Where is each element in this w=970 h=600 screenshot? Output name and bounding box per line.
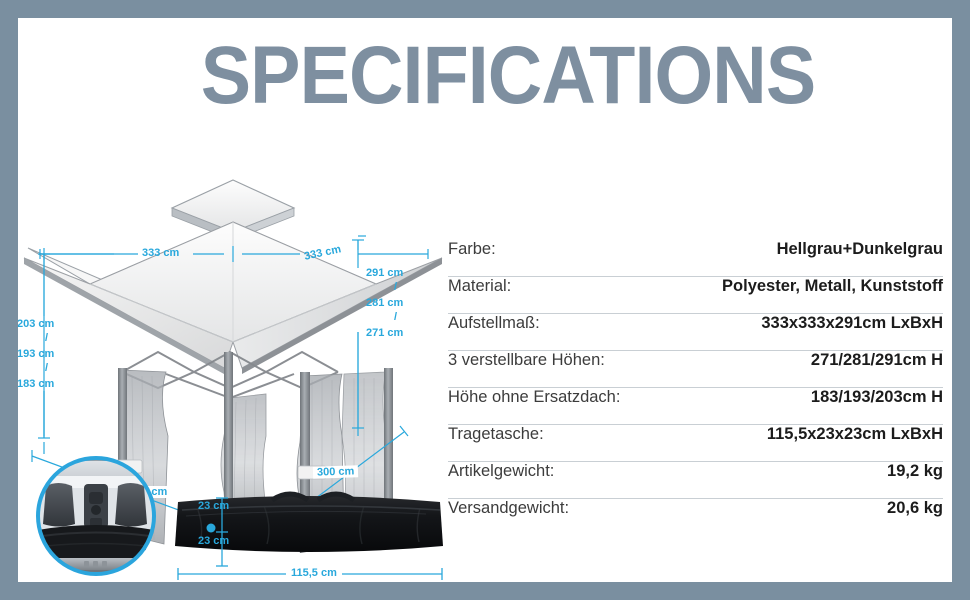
spec-value: 19,2 kg [887, 462, 943, 481]
spec-label: Artikelgewicht: [448, 462, 554, 481]
base-right-dimension: 300 cm [313, 465, 359, 479]
height-right-291: 291 cm [366, 267, 403, 279]
bag-depth-dimension: 23 cm [198, 500, 229, 512]
carry-bag-diagram: 23 cm 23 cm 115,5 cm [168, 480, 458, 582]
height-right-271: 271 cm [366, 327, 403, 339]
spec-label: 3 verstellbare Höhen: [448, 351, 605, 370]
height-right-281: 281 cm [366, 297, 403, 309]
height-left-193: 193 cm [18, 348, 54, 360]
table-row: Tragetasche: 115,5x23x23cm LxBxH [448, 425, 943, 462]
table-row: 3 verstellbare Höhen: 271/281/291cm H [448, 351, 943, 388]
card-inner: SPECIFICATIONS [18, 18, 952, 582]
height-right-slash-1: / [394, 281, 397, 293]
page-title: SPECIFICATIONS [158, 24, 857, 128]
spec-label: Tragetasche: [448, 425, 544, 444]
spec-value: 20,6 kg [887, 499, 943, 518]
height-left-slash-1: / [45, 332, 48, 344]
spec-label: Aufstellmaß: [448, 314, 540, 333]
table-row: Farbe: Hellgrau+Dunkelgrau [448, 240, 943, 277]
spec-value: 271/281/291cm H [811, 351, 943, 370]
spec-label: Höhe ohne Ersatzdach: [448, 388, 620, 407]
table-row: Versandgewicht: 20,6 kg [448, 499, 943, 536]
roof-left-dimension: 333 cm [142, 247, 179, 259]
bag-length-dimension: 115,5 cm [286, 567, 342, 579]
height-right-slash-2: / [394, 311, 397, 323]
table-row: Material: Polyester, Metall, Kunststoff [448, 277, 943, 314]
table-row: Höhe ohne Ersatzdach: 183/193/203cm H [448, 388, 943, 425]
spec-value: 115,5x23x23cm LxBxH [767, 425, 943, 444]
specifications-table: Farbe: Hellgrau+Dunkelgrau Material: Pol… [448, 240, 943, 536]
specification-card: SPECIFICATIONS [0, 0, 970, 600]
table-row: Aufstellmaß: 333x333x291cm LxBxH [448, 314, 943, 351]
spec-value: Polyester, Metall, Kunststoff [722, 277, 943, 296]
spec-value: Hellgrau+Dunkelgrau [777, 240, 943, 259]
car-trunk-inset [32, 452, 160, 580]
spec-value: 333x333x291cm LxBxH [761, 314, 943, 333]
spec-label: Material: [448, 277, 511, 296]
height-left-203: 203 cm [18, 318, 54, 330]
height-left-slash-2: / [45, 362, 48, 374]
spec-label: Versandgewicht: [448, 499, 569, 518]
bag-height-dimension: 23 cm [198, 535, 229, 547]
spec-label: Farbe: [448, 240, 496, 259]
spec-value: 183/193/203cm H [811, 388, 943, 407]
inset-photo [32, 452, 160, 580]
bag-marker-dot [207, 524, 216, 533]
height-left-183: 183 cm [18, 378, 54, 390]
table-row: Artikelgewicht: 19,2 kg [448, 462, 943, 499]
